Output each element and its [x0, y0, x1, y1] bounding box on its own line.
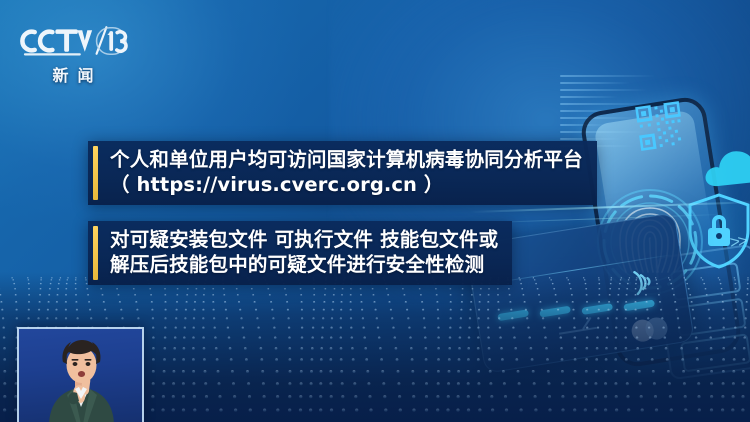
cctv-13-logo: 新闻 — [18, 24, 128, 86]
banner-2-line-1: 对可疑安装包文件 可执行文件 技能包文件或 — [110, 228, 498, 251]
channel-name-label: 新闻 — [18, 62, 128, 86]
banner-2-line-2: 解压后技能包中的可疑文件进行安全性检测 — [110, 252, 498, 277]
banner-1-line-1: 个人和单位用户均可访问国家计算机病毒协同分析平台 — [110, 148, 583, 171]
banner-1-line-2: （ https://virus.cverc.org.cn ） — [110, 172, 583, 197]
cctv-wordmark-icon — [18, 24, 128, 58]
lower-third-banner-1: 个人和单位用户均可访问国家计算机病毒协同分析平台 （ https://virus… — [88, 141, 597, 205]
banner-1-text: 个人和单位用户均可访问国家计算机病毒协同分析平台 （ https://virus… — [98, 141, 597, 205]
broadcast-screen: >> — [0, 0, 750, 422]
sign-language-interpreter-inset — [17, 327, 144, 422]
interpreter-figure — [19, 329, 142, 422]
banner-2-text: 对可疑安装包文件 可执行文件 技能包文件或 解压后技能包中的可疑文件进行安全性检… — [98, 221, 512, 285]
lower-third-banner-2: 对可疑安装包文件 可执行文件 技能包文件或 解压后技能包中的可疑文件进行安全性检… — [88, 221, 512, 285]
